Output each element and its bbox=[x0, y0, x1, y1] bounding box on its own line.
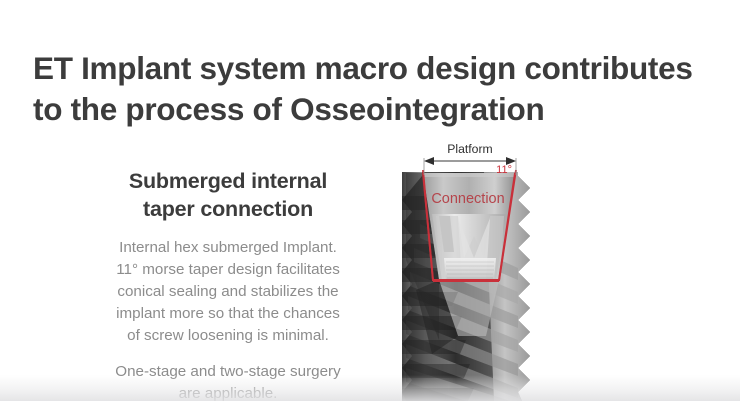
paragraph-1-line-2: 11° morse taper design facilitates bbox=[78, 259, 378, 281]
page-title-line-1: ET Implant system macro design contribut… bbox=[33, 48, 703, 89]
paragraph-2-line-2: are applicable. bbox=[78, 383, 378, 401]
page-title-line-2: to the process of Osseointegration bbox=[33, 89, 703, 130]
implant-figure: Platform 11° Connection bbox=[380, 140, 630, 401]
paragraph-1-line-3: conical sealing and stabilizes the bbox=[78, 281, 378, 303]
page-title: ET Implant system macro design contribut… bbox=[33, 48, 703, 129]
section-subheading-line-2: taper connection bbox=[78, 196, 378, 224]
paragraph-1-line-4: implant more so that the chances bbox=[78, 303, 378, 325]
connection-label: Connection bbox=[431, 191, 504, 207]
left-text-column: Submerged internal taper connection Inte… bbox=[78, 168, 378, 401]
description-paragraph-2: One-stage and two-stage surgery are appl… bbox=[78, 361, 378, 401]
paragraph-2-line-1: One-stage and two-stage surgery bbox=[78, 361, 378, 383]
platform-arrowhead-left bbox=[424, 157, 434, 165]
platform-label: Platform bbox=[447, 142, 492, 156]
taper-angle-label: 11° bbox=[496, 164, 512, 176]
slide-canvas: ET Implant system macro design contribut… bbox=[0, 0, 740, 401]
paragraph-1-line-5: of screw loosening is minimal. bbox=[78, 325, 378, 347]
section-subheading-line-1: Submerged internal bbox=[78, 168, 378, 196]
section-subheading: Submerged internal taper connection bbox=[78, 168, 378, 224]
paragraph-1-line-1: Internal hex submerged Implant. bbox=[78, 237, 378, 259]
connection-bore-floor bbox=[444, 258, 496, 281]
description-paragraph-1: Internal hex submerged Implant. 11° mors… bbox=[78, 237, 378, 347]
